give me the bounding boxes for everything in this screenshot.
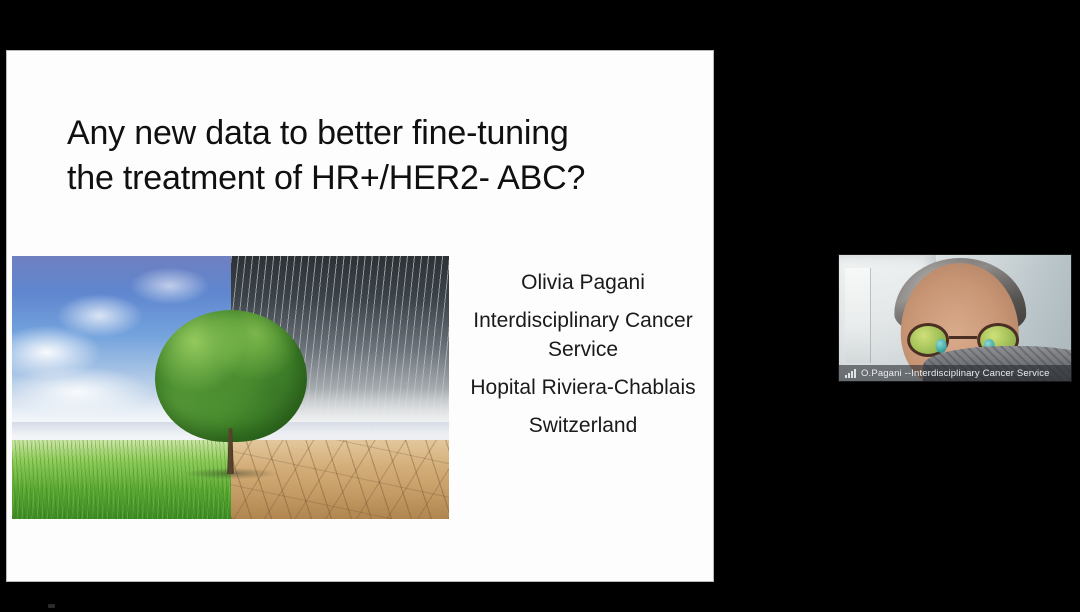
- participant-video-tile[interactable]: O.Pagani --Interdisciplinary Cancer Serv…: [838, 254, 1072, 382]
- room-door: [845, 268, 871, 364]
- author-country: Switzerland: [455, 412, 711, 441]
- toolbar-edge-artifact: [48, 604, 55, 608]
- author-block: Olivia Pagani Interdisciplinary Cancer S…: [455, 269, 711, 441]
- participant-name-bar: O.Pagani --Interdisciplinary Cancer Serv…: [839, 365, 1071, 381]
- slide-title: Any new data to better fine-tuning the t…: [67, 111, 687, 201]
- climate-change-split-tree-photo: [12, 256, 449, 519]
- author-affiliation-line-1: Interdisciplinary Cancer: [455, 307, 711, 336]
- participant-video-feed: [839, 255, 1071, 381]
- author-name: Olivia Pagani: [455, 269, 711, 298]
- author-hospital: Hopital Riviera-Chablais: [455, 374, 711, 403]
- meeting-bottom-bar: [0, 582, 1080, 612]
- photo-half-storm: [231, 256, 450, 519]
- green-grass: [12, 440, 231, 519]
- meeting-stage: Any new data to better fine-tuning the t…: [0, 0, 1080, 612]
- participant-name-label: O.Pagani --Interdisciplinary Cancer Serv…: [861, 368, 1050, 379]
- signal-bars-icon: [845, 369, 856, 378]
- shared-slide[interactable]: Any new data to better fine-tuning the t…: [6, 50, 714, 582]
- eyeglass-bridge: [949, 336, 977, 340]
- photo-half-sunny: [12, 256, 231, 519]
- author-affiliation-line-2: Service: [455, 336, 711, 365]
- cracked-dry-earth: [231, 440, 450, 519]
